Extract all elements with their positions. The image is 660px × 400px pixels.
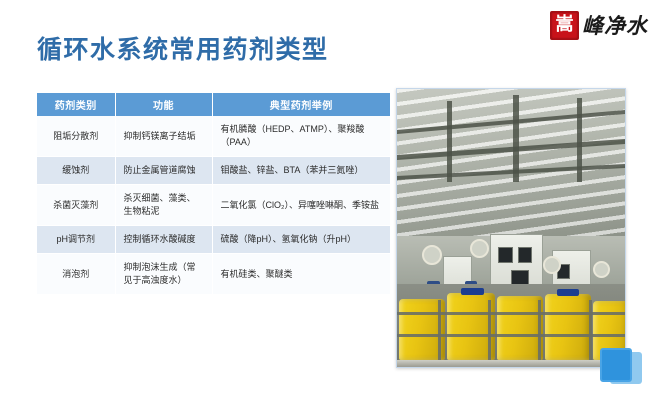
rail-post <box>589 300 592 360</box>
table-row: pH调节剂 控制循环水酸碱度 硫酸（降pH）、氢氧化钠（升pH） <box>37 226 390 254</box>
cell-category: 阻垢分散剂 <box>37 116 115 157</box>
seal-icon: 嵩 <box>550 11 579 40</box>
column-header-category: 药剂类别 <box>37 93 115 116</box>
cell-category: 消泡剂 <box>37 254 115 295</box>
pressure-gauge <box>470 239 489 258</box>
slide-canvas: 嵩 峰净水 循环水系统常用药剂类型 药剂类别 功能 典型药剂举例 阻垢分散剂 抑… <box>0 0 660 400</box>
table-row: 消泡剂 抑制泡沫生成（常见于高浊度水） 有机硅类、聚醚类 <box>37 254 390 295</box>
cell-category: 杀菌灭藻剂 <box>37 185 115 226</box>
table-row: 缓蚀剂 防止金属管道腐蚀 钼酸盐、锌盐、BTA（苯并三氮唑） <box>37 157 390 185</box>
support-column <box>513 95 519 182</box>
page-title: 循环水系统常用药剂类型 <box>37 30 329 66</box>
column-header-function: 功能 <box>115 93 212 116</box>
table-row: 阻垢分散剂 抑制钙镁离子结垢 有机膦酸（HEDP、ATMP）、聚羧酸（PAA） <box>37 116 390 157</box>
facility-photo <box>396 88 626 368</box>
cell-function: 杀灭细菌、藻类、生物粘泥 <box>115 185 212 226</box>
rail-post <box>538 300 541 360</box>
cell-examples: 有机硅类、聚醚类 <box>212 254 390 295</box>
cell-category: 缓蚀剂 <box>37 157 115 185</box>
roof-beam <box>397 109 625 135</box>
rail-post <box>488 300 491 360</box>
dosing-tank <box>545 294 591 359</box>
decorative-squares <box>596 348 650 388</box>
column-header-examples: 典型药剂举例 <box>212 93 390 116</box>
cell-function: 防止金属管道腐蚀 <box>115 157 212 185</box>
photo-content <box>397 89 625 367</box>
pressure-gauge <box>543 256 561 274</box>
support-column <box>577 98 582 182</box>
pressure-gauge <box>422 245 442 265</box>
tank-cap <box>461 288 484 295</box>
roof-structure <box>397 89 625 245</box>
cell-examples: 硫酸（降pH）、氢氧化钠（升pH） <box>212 226 390 254</box>
roof-beam <box>397 163 625 180</box>
table-header-row: 药剂类别 功能 典型药剂举例 <box>37 93 390 116</box>
brand-logo: 嵩 峰净水 <box>550 8 648 42</box>
support-column <box>447 101 452 182</box>
cell-examples: 有机膦酸（HEDP、ATMP）、聚羧酸（PAA） <box>212 116 390 157</box>
cell-function: 抑制泡沫生成（常见于高浊度水） <box>115 254 212 295</box>
brand-name: 峰净水 <box>582 12 648 39</box>
display-panel <box>518 247 533 263</box>
display-panel <box>498 247 513 263</box>
cell-function: 抑制钙镁离子结垢 <box>115 116 212 157</box>
roof-beam <box>397 138 625 161</box>
dosing-tank <box>497 296 543 359</box>
chemical-table-container: 药剂类别 功能 典型药剂举例 阻垢分散剂 抑制钙镁离子结垢 有机膦酸（HEDP、… <box>37 93 390 295</box>
tank-area <box>397 284 625 367</box>
cell-examples: 二氧化氯（ClO₂）、异噻唑啉酮、季铵盐 <box>212 185 390 226</box>
rail-post <box>438 300 441 360</box>
cell-examples: 钼酸盐、锌盐、BTA（苯并三氮唑） <box>212 157 390 185</box>
floor <box>397 360 625 368</box>
tank-cap <box>557 289 580 296</box>
cell-function: 控制循环水酸碱度 <box>115 226 212 254</box>
cell-category: pH调节剂 <box>37 226 115 254</box>
table-row: 杀菌灭藻剂 杀灭细菌、藻类、生物粘泥 二氧化氯（ClO₂）、异噻唑啉酮、季铵盐 <box>37 185 390 226</box>
chemical-table: 药剂类别 功能 典型药剂举例 阻垢分散剂 抑制钙镁离子结垢 有机膦酸（HEDP、… <box>37 93 390 295</box>
decorative-square-front <box>600 348 632 382</box>
